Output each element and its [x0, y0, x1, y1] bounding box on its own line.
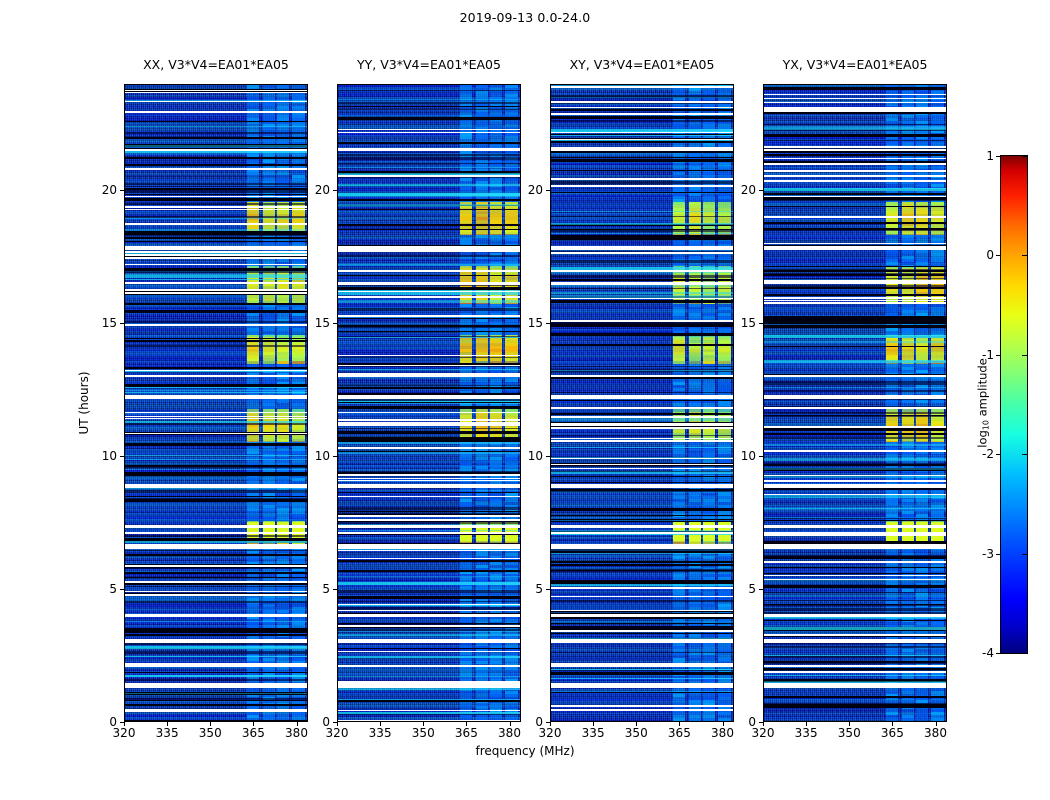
flagged-time-band [125, 639, 307, 643]
flagged-time-band [551, 375, 733, 378]
time-structure-band [764, 704, 946, 706]
time-structure-band [764, 316, 946, 319]
time-structure-band [338, 513, 520, 514]
time-structure-band [338, 106, 520, 107]
time-structure-band [551, 633, 733, 634]
flagged-time-band [338, 474, 520, 476]
flagged-time-band [125, 581, 307, 583]
time-structure-band [764, 266, 946, 267]
time-structure-band [551, 135, 733, 136]
y-tick-label: 10 [741, 449, 756, 463]
colorbar-tick [996, 355, 1001, 356]
flagged-time-band [764, 665, 946, 668]
time-structure-band [551, 489, 733, 491]
flagged-time-band [551, 596, 733, 597]
time-structure-band [551, 582, 733, 584]
time-structure-band [764, 585, 946, 588]
rfi-blob [718, 335, 731, 362]
time-structure-band [338, 184, 520, 186]
flagged-time-band [551, 438, 733, 439]
time-structure-band [125, 554, 307, 556]
flagged-time-band [338, 424, 520, 426]
y-tick-label: 20 [741, 183, 756, 197]
time-structure-band [125, 538, 307, 541]
flagged-time-band [551, 284, 733, 285]
heatmap-axes[interactable] [337, 84, 521, 722]
time-structure-band [338, 109, 520, 110]
time-structure-band [125, 384, 307, 387]
colorbar-tick-label: 0 [986, 248, 994, 262]
flagged-time-band [551, 246, 733, 250]
y-tick-label: 5 [748, 582, 756, 596]
time-structure-band [764, 661, 946, 662]
time-structure-band [125, 455, 307, 456]
flagged-time-band [764, 494, 946, 495]
flagged-time-band [764, 163, 946, 165]
time-structure-band [338, 648, 520, 649]
time-structure-band [125, 216, 307, 218]
time-structure-band [338, 209, 520, 210]
time-structure-band [338, 631, 520, 632]
time-structure-band [338, 492, 520, 493]
colorbar-label: log10 amplitude [976, 358, 991, 448]
flagged-time-band [338, 129, 520, 130]
flagged-time-band [338, 315, 520, 317]
time-structure-band [125, 601, 307, 603]
time-structure-band [338, 451, 520, 452]
flagged-time-band [764, 246, 946, 250]
flagged-time-band [764, 426, 946, 428]
time-structure-band [338, 194, 520, 197]
time-structure-band [125, 704, 307, 706]
flagged-time-band [125, 264, 307, 265]
flagged-time-band [551, 587, 733, 589]
x-tick-label: 380 [711, 726, 734, 740]
time-structure-band [551, 447, 733, 448]
flagged-time-band [125, 591, 307, 592]
flagged-time-band [764, 196, 946, 197]
time-structure-band [764, 433, 946, 435]
flagged-time-band [551, 86, 733, 88]
time-structure-band [125, 392, 307, 393]
time-structure-band [551, 418, 733, 421]
flagged-time-band [551, 464, 733, 465]
time-structure-band [764, 656, 946, 658]
y-tick [759, 190, 763, 191]
time-structure-band [125, 235, 307, 236]
time-structure-band [551, 141, 733, 143]
time-structure-band [764, 643, 946, 644]
time-structure-band [125, 465, 307, 467]
time-structure-band [125, 498, 307, 499]
time-structure-band [338, 402, 520, 403]
time-structure-band [338, 308, 520, 311]
flagged-time-band [338, 250, 520, 252]
flagged-time-band [125, 292, 307, 294]
time-structure-band [338, 337, 520, 338]
time-structure-band [125, 390, 307, 391]
colorbar-tick-label: -4 [982, 646, 994, 660]
time-structure-band [764, 495, 946, 498]
flagged-time-band [125, 206, 307, 208]
time-structure-band [764, 580, 946, 581]
time-structure-band [125, 270, 307, 273]
time-structure-band [551, 344, 733, 346]
time-structure-band [764, 518, 946, 519]
flagged-time-band [764, 111, 946, 112]
y-tick-label: 0 [748, 715, 756, 729]
time-structure-band [551, 476, 733, 477]
x-tick-label: 365 [881, 726, 904, 740]
x-tick-label: 350 [199, 726, 222, 740]
time-structure-band [764, 508, 946, 509]
time-structure-band [125, 121, 307, 122]
flagged-time-band [338, 604, 520, 605]
heatmap-axes[interactable] [763, 84, 947, 722]
heatmap-axes[interactable] [550, 84, 734, 722]
y-tick-label: 0 [322, 715, 330, 729]
time-structure-band [551, 692, 733, 693]
time-structure-band [551, 515, 733, 516]
flagged-time-band [338, 544, 520, 549]
time-structure-band [338, 571, 520, 572]
y-tick-label: 15 [102, 316, 117, 330]
time-structure-band [125, 126, 307, 127]
y-tick [759, 456, 763, 457]
flagged-time-band [338, 519, 520, 521]
flagged-time-band [125, 90, 307, 91]
time-structure-band [125, 631, 307, 633]
flagged-time-band [338, 447, 520, 448]
rfi-blob [247, 409, 259, 441]
time-structure-band [764, 383, 946, 385]
x-tick-label: 350 [838, 726, 861, 740]
time-structure-band [125, 321, 307, 323]
flagged-time-band [764, 375, 946, 378]
flagged-time-band [764, 298, 946, 299]
time-structure-band [551, 181, 733, 184]
y-tick [333, 323, 337, 324]
time-structure-band [338, 99, 520, 100]
time-structure-band [125, 145, 307, 147]
time-structure-band [764, 476, 946, 478]
time-structure-band [764, 567, 946, 568]
time-structure-band [338, 442, 520, 444]
flagged-time-band [338, 610, 520, 611]
time-structure-band [338, 292, 520, 295]
flagged-time-band [338, 412, 520, 413]
flagged-time-band [551, 663, 733, 665]
time-structure-band [551, 600, 733, 602]
flagged-time-band [338, 148, 520, 150]
time-structure-band [338, 102, 520, 104]
time-structure-band [338, 576, 520, 577]
time-structure-band [551, 561, 733, 563]
flagged-time-band [551, 639, 733, 643]
flagged-time-band [764, 614, 946, 617]
time-structure-band [764, 126, 946, 128]
flagged-time-band [338, 532, 520, 535]
time-structure-band [338, 357, 520, 358]
flagged-time-band [125, 484, 307, 486]
time-structure-band [338, 154, 520, 156]
time-structure-band [764, 604, 946, 605]
flagged-time-band [125, 663, 307, 665]
flagged-time-band [551, 683, 733, 688]
flagged-time-band [551, 440, 733, 442]
time-structure-band [551, 170, 733, 171]
x-tick-label: 380 [498, 726, 521, 740]
flagged-time-band [551, 425, 733, 426]
flagged-time-band [125, 433, 307, 434]
figure-suptitle: 2019-09-13 0.0-24.0 [0, 10, 1050, 25]
y-axis-label: UT (hours) [77, 371, 91, 434]
x-tick-label: 365 [455, 726, 478, 740]
x-tick-label: 350 [625, 726, 648, 740]
y-tick-label: 5 [322, 582, 330, 596]
flagged-time-band [338, 525, 520, 528]
heatmap-axes[interactable] [124, 84, 308, 722]
y-tick-label: 15 [741, 316, 756, 330]
time-structure-band [764, 325, 946, 328]
flagged-time-band [338, 550, 520, 551]
flagged-time-band [551, 395, 733, 399]
time-structure-band [551, 549, 733, 551]
time-structure-band [764, 287, 946, 289]
time-structure-band [125, 241, 307, 242]
time-structure-band [551, 109, 733, 111]
y-tick [759, 589, 763, 590]
time-structure-band [551, 652, 733, 653]
y-tick [120, 589, 124, 590]
time-structure-band [551, 233, 733, 234]
time-structure-band [551, 192, 733, 193]
time-structure-band [764, 151, 946, 153]
flagged-time-band [764, 639, 946, 643]
time-structure-band [551, 300, 733, 303]
time-structure-band [764, 322, 946, 324]
time-structure-band [338, 712, 520, 714]
flagged-time-band [338, 270, 520, 272]
time-structure-band [551, 238, 733, 240]
time-structure-band [338, 331, 520, 332]
time-structure-band [764, 437, 946, 439]
time-structure-band [551, 230, 733, 232]
time-structure-band [764, 278, 946, 279]
time-structure-band [764, 206, 946, 207]
x-tick-label: 335 [795, 726, 818, 740]
panel-title: XX, V3*V4=EA01*EA05 [143, 57, 289, 72]
y-tick [333, 190, 337, 191]
y-tick [546, 190, 550, 191]
flagged-time-band [125, 370, 307, 371]
time-structure-band [551, 370, 733, 371]
y-tick [759, 323, 763, 324]
time-structure-band [125, 586, 307, 587]
flagged-time-band [125, 544, 307, 549]
time-structure-band [551, 116, 733, 119]
panel-title: XY, V3*V4=EA01*EA05 [570, 57, 715, 72]
flagged-time-band [338, 365, 520, 366]
time-structure-band [125, 268, 307, 269]
flagged-time-band [764, 243, 946, 244]
time-structure-band [125, 132, 307, 134]
time-structure-band [125, 693, 307, 694]
flagged-time-band [551, 147, 733, 149]
time-structure-band [764, 592, 946, 593]
flagged-time-band [338, 395, 520, 399]
time-structure-band [125, 279, 307, 280]
flagged-time-band [551, 407, 733, 409]
panel-xy: XY, V3*V4=EA01*EA05 32033535036538005101… [550, 84, 734, 722]
rfi-blob [916, 335, 928, 362]
time-structure-band [125, 303, 307, 305]
colorbar-tick-inner [1022, 355, 1027, 356]
flagged-time-band [551, 427, 733, 429]
flagged-time-band [764, 158, 946, 159]
time-structure-band [125, 473, 307, 476]
flagged-time-band [764, 170, 946, 172]
time-structure-band [338, 601, 520, 602]
flagged-time-band [338, 720, 520, 722]
flagged-time-band [338, 375, 520, 378]
time-structure-band [125, 499, 307, 502]
flagged-time-band [764, 395, 946, 399]
time-structure-band [125, 340, 307, 342]
flagged-time-band [125, 683, 307, 684]
flagged-time-band [551, 532, 733, 535]
time-structure-band [125, 675, 307, 677]
colorbar-tick-label: 1 [986, 149, 994, 163]
time-structure-band [338, 406, 520, 409]
time-structure-band [125, 621, 307, 622]
flagged-time-band [764, 302, 946, 304]
colorbar-tick-inner [1022, 156, 1027, 157]
time-structure-band [764, 616, 946, 618]
time-structure-band [764, 458, 946, 461]
time-structure-band [764, 520, 946, 521]
flagged-time-band [338, 558, 520, 559]
time-structure-band [551, 611, 733, 612]
time-structure-band [764, 335, 946, 338]
time-structure-band [338, 582, 520, 585]
x-tick-label: 335 [369, 726, 392, 740]
time-structure-band [338, 590, 520, 593]
flagged-time-band [125, 395, 307, 399]
time-structure-band [764, 468, 946, 470]
time-structure-band [338, 369, 520, 370]
flagged-time-band [764, 534, 946, 536]
time-structure-band [125, 231, 307, 234]
time-structure-band [551, 216, 733, 217]
rfi-band-2 [277, 85, 289, 721]
flagged-time-band [764, 175, 946, 177]
time-structure-band [338, 117, 520, 120]
flagged-time-band [338, 419, 520, 421]
time-structure-band [125, 550, 307, 551]
time-structure-band [551, 120, 733, 122]
time-structure-band [338, 275, 520, 276]
time-structure-band [551, 509, 733, 510]
x-tick-label: 380 [285, 726, 308, 740]
flagged-time-band [551, 525, 733, 528]
time-structure-band [338, 167, 520, 168]
time-structure-band [125, 459, 307, 460]
flagged-time-band [551, 709, 733, 711]
time-structure-band [764, 696, 946, 698]
time-structure-band [125, 229, 307, 231]
time-structure-band [338, 439, 520, 442]
time-structure-band [125, 720, 307, 721]
panel-title: YY, V3*V4=EA01*EA05 [357, 57, 501, 72]
time-structure-band [764, 555, 946, 557]
y-tick-label: 0 [535, 715, 543, 729]
time-structure-band [338, 507, 520, 510]
time-structure-band [338, 327, 520, 328]
time-structure-band [551, 333, 733, 336]
time-structure-band [125, 338, 307, 339]
flagged-time-band [551, 416, 733, 418]
time-structure-band [338, 264, 520, 266]
time-structure-band [551, 97, 733, 98]
time-structure-band [551, 325, 733, 327]
time-structure-band [338, 204, 520, 206]
flagged-time-band [551, 139, 733, 140]
y-tick [120, 456, 124, 457]
flagged-time-band [338, 448, 520, 449]
flagged-time-band [764, 579, 946, 580]
flagged-time-band [125, 418, 307, 419]
flagged-time-band [338, 355, 520, 356]
time-structure-band [338, 700, 520, 702]
flagged-time-band [764, 107, 946, 109]
time-structure-band [551, 617, 733, 619]
flagged-time-band [338, 710, 520, 711]
y-tick-label: 20 [315, 183, 330, 197]
time-structure-band [764, 646, 946, 648]
time-structure-band [338, 385, 520, 386]
panel-title: YX, V3*V4=EA01*EA05 [783, 57, 928, 72]
flagged-time-band [338, 665, 520, 668]
time-structure-band [338, 596, 520, 599]
time-structure-band [125, 490, 307, 493]
time-structure-band [338, 163, 520, 164]
flagged-time-band [338, 625, 520, 627]
time-structure-band [125, 698, 307, 701]
flagged-time-band [551, 113, 733, 115]
time-structure-band [125, 567, 307, 569]
flagged-time-band [125, 92, 307, 93]
time-structure-band [125, 275, 307, 278]
flagged-time-band [338, 683, 520, 688]
time-structure-band [764, 390, 946, 392]
time-structure-band [125, 137, 307, 139]
flagged-time-band [125, 412, 307, 413]
y-tick [759, 722, 763, 723]
time-structure-band [764, 600, 946, 601]
y-tick [120, 722, 124, 723]
flagged-time-band [338, 480, 520, 481]
rfi-blob [689, 335, 701, 362]
x-tick-label: 365 [242, 726, 265, 740]
time-structure-band [125, 634, 307, 636]
time-structure-band [338, 521, 520, 524]
flagged-time-band [338, 639, 520, 643]
time-structure-band [125, 188, 307, 190]
flagged-time-band [338, 614, 520, 617]
time-structure-band [764, 134, 946, 137]
x-tick-label: 365 [668, 726, 691, 740]
